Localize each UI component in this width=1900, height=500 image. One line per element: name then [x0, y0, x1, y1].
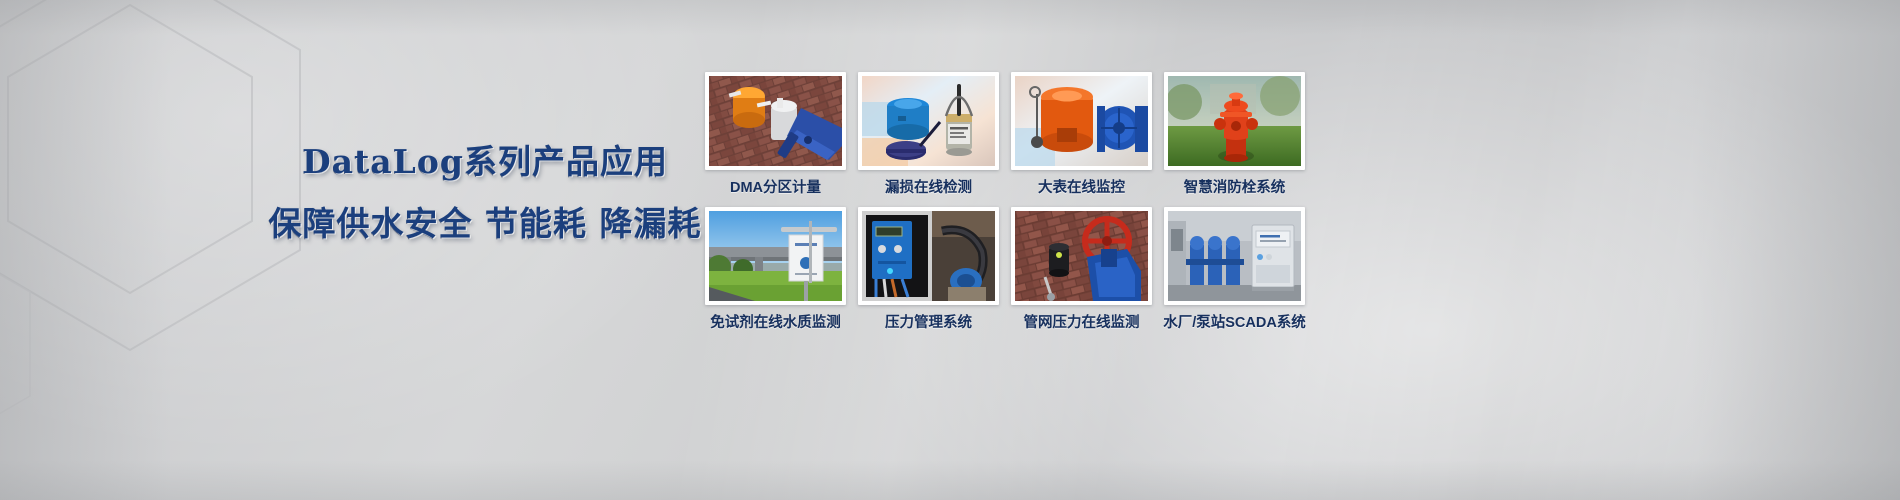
gallery-item-pipe-pressure[interactable]: 管网压力在线监测: [1011, 207, 1152, 332]
gallery-item-large-meter[interactable]: 大表在线监控: [1011, 72, 1152, 197]
caption-wrap: 水厂/泵站SCADA系统: [1164, 305, 1305, 332]
gallery-item-smart-hydrant[interactable]: 智慧消防栓系统: [1164, 72, 1305, 197]
gallery-row: 免试剂在线水质监测: [705, 207, 1860, 332]
gallery-item-caption: 免试剂在线水质监测: [710, 314, 841, 332]
pressure-management-photo: [862, 211, 995, 301]
headline-line-2: 保障供水安全 节能耗 降漏耗: [250, 202, 720, 246]
gallery-item-caption: 管网压力在线监测: [1024, 314, 1140, 332]
dma-metering-photo: [709, 76, 842, 166]
product-banner: DataLog系列产品应用 保障供水安全 节能耗 降漏耗: [0, 0, 1900, 500]
gallery-item-caption: 智慧消防栓系统: [1184, 179, 1286, 197]
thumbnail-frame[interactable]: [858, 207, 999, 305]
caption-wrap: 漏损在线检测: [858, 170, 999, 197]
headline-block: DataLog系列产品应用 保障供水安全 节能耗 降漏耗: [250, 140, 720, 246]
caption-wrap: 管网压力在线监测: [1011, 305, 1152, 332]
product-gallery: DMA分区计量: [705, 72, 1860, 332]
gallery-item-dma-metering[interactable]: DMA分区计量: [705, 72, 846, 197]
gallery-item-caption: 压力管理系统: [885, 314, 972, 332]
gallery-item-water-quality[interactable]: 免试剂在线水质监测: [705, 207, 846, 332]
gallery-row: DMA分区计量: [705, 72, 1860, 197]
caption-wrap: 大表在线监控: [1011, 170, 1152, 197]
thumbnail-frame[interactable]: [858, 72, 999, 170]
hexagon-pattern-decoration: [0, 0, 400, 500]
gallery-item-caption: 水厂/泵站SCADA系统: [1163, 314, 1306, 332]
caption-wrap: 智慧消防栓系统: [1164, 170, 1305, 197]
pipe-pressure-monitoring-photo: [1015, 211, 1148, 301]
gallery-item-leak-detection[interactable]: 漏损在线检测: [858, 72, 999, 197]
gallery-item-scada-system[interactable]: 水厂/泵站SCADA系统: [1164, 207, 1305, 332]
smart-hydrant-photo: [1168, 76, 1301, 166]
gallery-item-pressure-management[interactable]: 压力管理系统: [858, 207, 999, 332]
thumbnail-frame[interactable]: [1011, 72, 1152, 170]
headline-line-1: DataLog系列产品应用: [250, 140, 720, 184]
water-quality-monitoring-photo: [709, 211, 842, 301]
leak-detection-photo: [862, 76, 995, 166]
caption-wrap: 压力管理系统: [858, 305, 999, 332]
large-meter-monitoring-photo: [1015, 76, 1148, 166]
gallery-item-caption: DMA分区计量: [730, 179, 821, 197]
caption-wrap: 免试剂在线水质监测: [705, 305, 846, 332]
gallery-item-caption: 漏损在线检测: [885, 179, 972, 197]
gallery-item-caption: 大表在线监控: [1038, 179, 1125, 197]
thumbnail-frame[interactable]: [1011, 207, 1152, 305]
scada-system-photo: [1168, 211, 1301, 301]
thumbnail-frame[interactable]: [705, 72, 846, 170]
caption-wrap: DMA分区计量: [705, 170, 846, 197]
thumbnail-frame[interactable]: [1164, 207, 1305, 305]
thumbnail-frame[interactable]: [1164, 72, 1305, 170]
thumbnail-frame[interactable]: [705, 207, 846, 305]
